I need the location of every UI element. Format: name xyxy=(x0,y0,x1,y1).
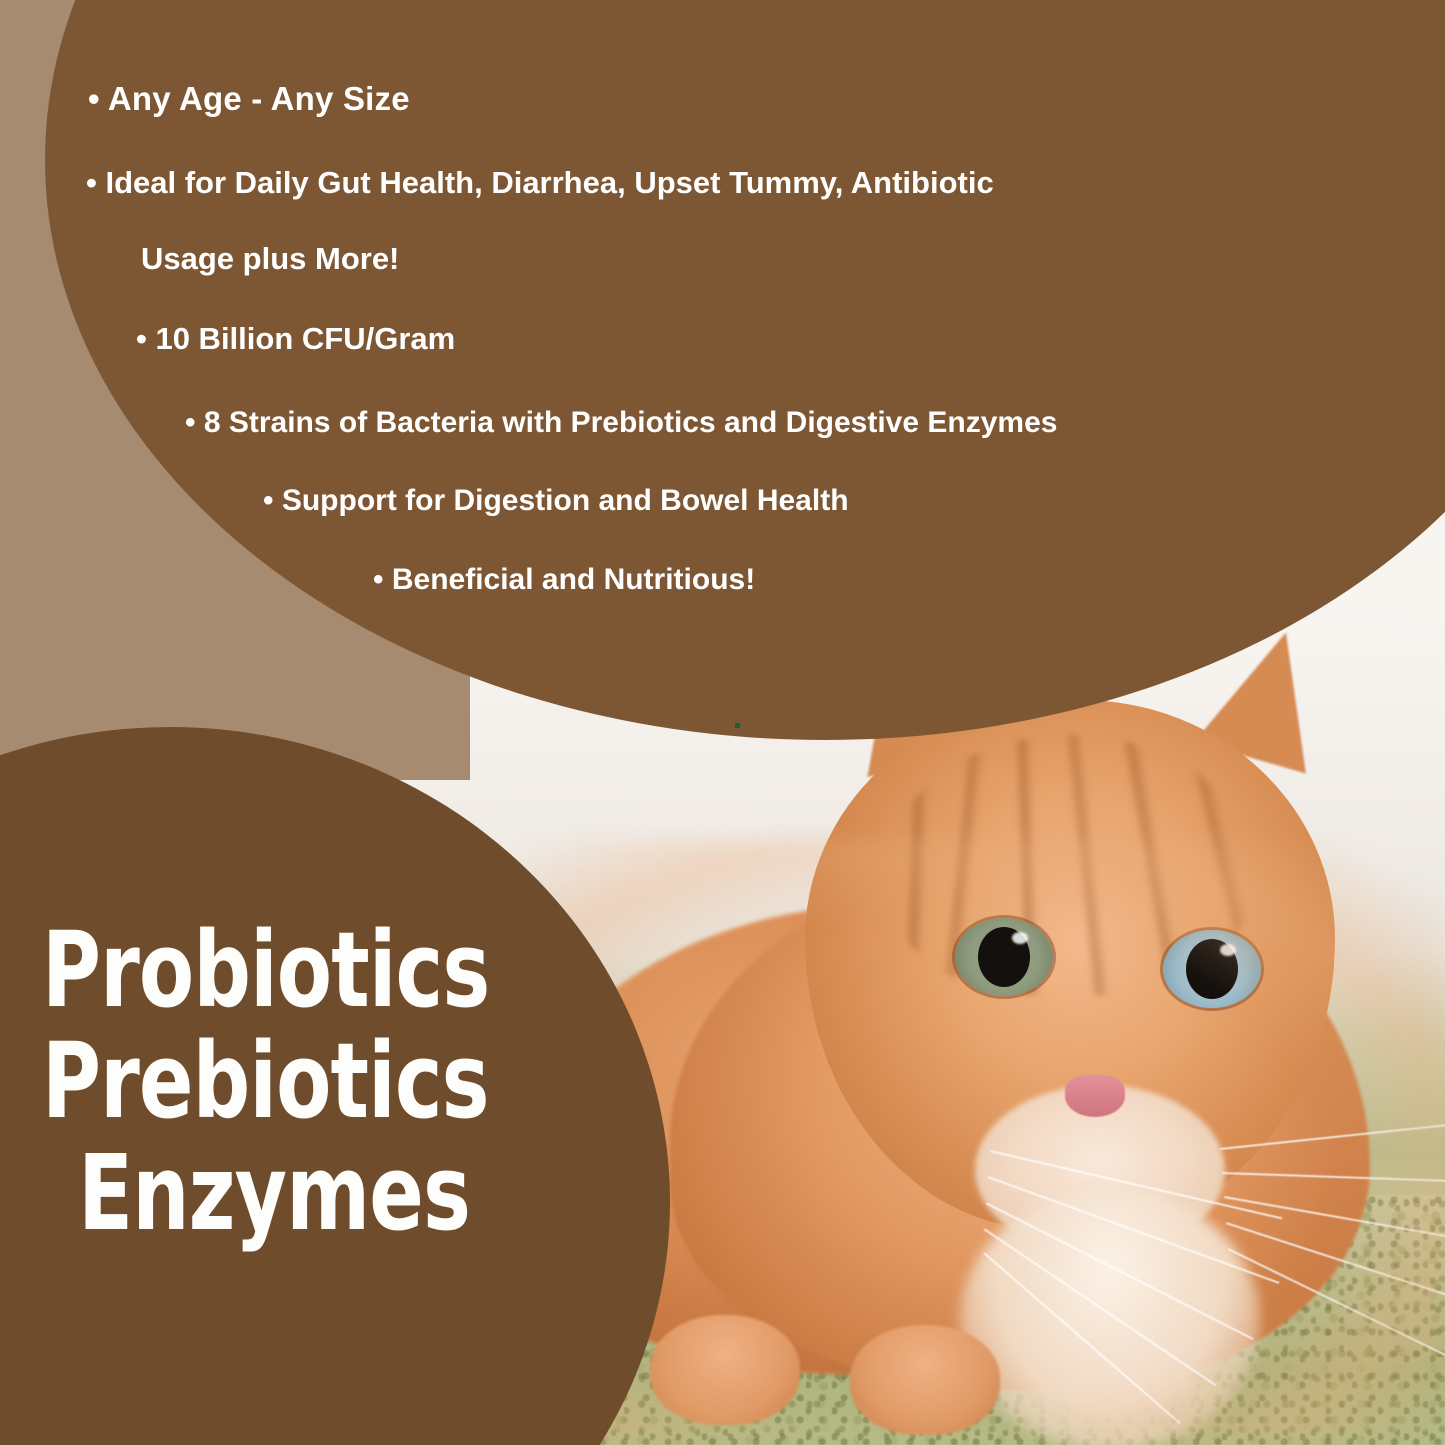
bullet-item-4: • 8 Strains of Bacteria with Prebiotics … xyxy=(185,408,1057,438)
bullet-item-3: • 10 Billion CFU/Gram xyxy=(136,323,455,354)
cat-figure xyxy=(520,690,1445,1445)
bullet-item-6: • Beneficial and Nutritious! xyxy=(373,565,755,595)
bullet-item-5: • Support for Digestion and Bowel Health xyxy=(263,486,849,516)
headline-line-prebiotics: Prebiotics xyxy=(42,1026,489,1137)
bullet-item-2: • Ideal for Daily Gut Health, Diarrhea, … xyxy=(86,167,994,198)
bullet-item-2-continuation: Usage plus More! xyxy=(141,243,399,274)
poster-canvas: • Any Age - Any Size • Ideal for Daily G… xyxy=(0,0,1445,1445)
bullet-item-1: • Any Age - Any Size xyxy=(88,82,410,115)
product-headline: Probiotics Prebiotics Enzymes xyxy=(42,915,489,1249)
feature-bullet-list: • Any Age - Any Size • Ideal for Daily G… xyxy=(0,0,1445,640)
headline-line-enzymes: Enzymes xyxy=(42,1138,489,1249)
headline-line-probiotics: Probiotics xyxy=(42,915,489,1026)
green-speck xyxy=(735,723,740,728)
